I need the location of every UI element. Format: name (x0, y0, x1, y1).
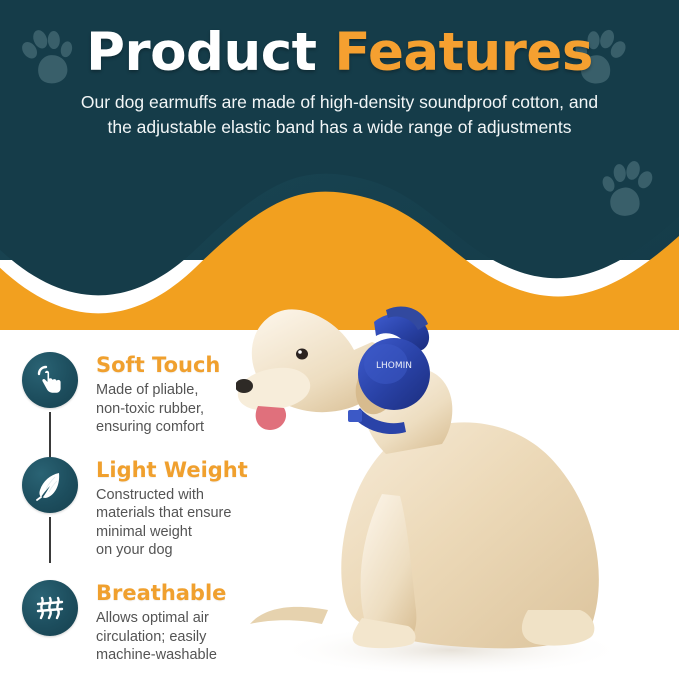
page-title: Product Features (0, 26, 679, 79)
header-text-block: Product Features Our dog earmuffs are ma… (0, 26, 679, 140)
feature-title: Soft Touch (96, 354, 220, 377)
title-word-product: Product (86, 22, 316, 83)
feature-description: Constructed with materials that ensure m… (96, 486, 248, 560)
airflow-icon (22, 580, 78, 636)
feature-item-soft-touch: Soft Touch Made of pliable, non-toxic ru… (22, 352, 300, 437)
feather-icon (22, 457, 78, 513)
touch-hand-icon (22, 352, 78, 408)
feature-description: Allows optimal air circulation; easily m… (96, 609, 226, 665)
feature-icon-column (22, 457, 96, 560)
feature-item-breathable: Breathable Allows optimal air circulatio… (22, 580, 300, 665)
feature-connector-line (49, 517, 51, 563)
subtitle: Our dog earmuffs are made of high-densit… (0, 90, 679, 140)
product-features-infographic: Product Features Our dog earmuffs are ma… (0, 0, 679, 679)
feature-icon-column (22, 580, 96, 665)
paw-print-mid-right (595, 155, 661, 225)
feature-list: Soft Touch Made of pliable, non-toxic ru… (22, 352, 300, 665)
subtitle-line-2: the adjustable elastic band has a wide r… (107, 117, 571, 137)
feature-connector-line (49, 412, 51, 458)
feature-title: Light Weight (96, 459, 248, 482)
feature-icon-column (22, 352, 96, 437)
feature-description: Made of pliable, non-toxic rubber, ensur… (96, 381, 220, 437)
feature-title: Breathable (96, 582, 226, 605)
feature-text-column: Breathable Allows optimal air circulatio… (96, 580, 226, 665)
feature-text-column: Soft Touch Made of pliable, non-toxic ru… (96, 352, 220, 437)
feature-item-light-weight: Light Weight Constructed with materials … (22, 457, 300, 560)
subtitle-line-1: Our dog earmuffs are made of high-densit… (81, 92, 598, 112)
earmuff-brand-label: LHOMIN (376, 361, 412, 371)
title-word-features: Features (334, 22, 592, 83)
dog-wearing-earmuffs-photo: LHOMIN (236, 258, 679, 679)
feature-text-column: Light Weight Constructed with materials … (96, 457, 248, 560)
